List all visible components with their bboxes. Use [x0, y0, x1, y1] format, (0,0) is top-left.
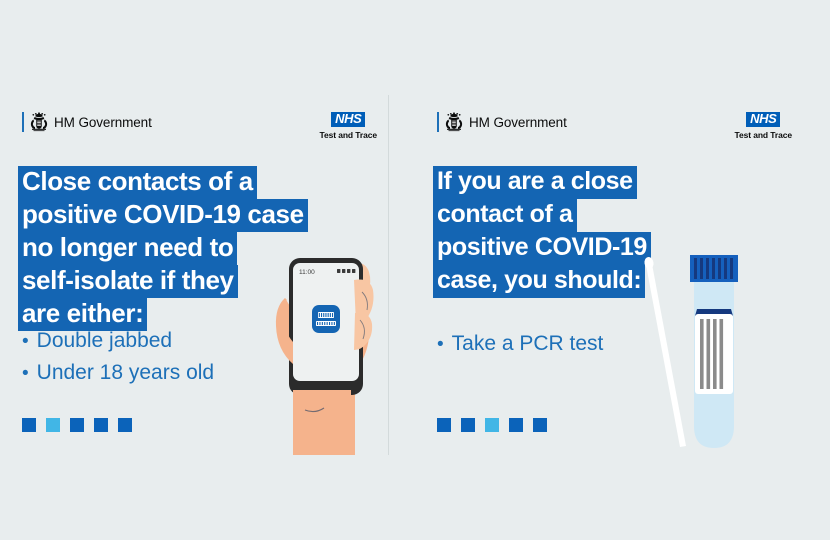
- phone-status-time: 11:00: [299, 269, 315, 276]
- bullet-marker-icon: •: [22, 358, 29, 389]
- list-item-label: Under 18 years old: [37, 357, 214, 388]
- heading-line-text: Close contacts of a: [18, 166, 257, 199]
- heading-line: If you are a close: [433, 166, 651, 199]
- nhs-logo-subtitle: Test and Trace: [320, 130, 378, 140]
- nhs-test-and-trace-logo: NHS Test and Trace: [320, 110, 378, 140]
- decor-square: [94, 418, 108, 432]
- hand-phone-svg: 11:00: [255, 250, 405, 455]
- decor-square: [118, 418, 132, 432]
- heading-line-text: case, you should:: [433, 265, 645, 298]
- hand-holding-phone-illustration: 11:00: [255, 250, 405, 455]
- heading-line-text: self-isolate if they: [18, 265, 238, 298]
- panel-right-header: HM Government NHS Test and Trace: [437, 112, 810, 144]
- nhs-covid19-app-icon: [312, 305, 340, 333]
- royal-crest-icon: [29, 112, 49, 132]
- panel-right-square-decoration: [437, 418, 547, 432]
- nhs-logo-mark: NHS: [331, 112, 365, 127]
- hm-government-accent-bar: [22, 112, 24, 132]
- list-item: • Take a PCR test: [437, 328, 603, 360]
- decor-square-highlight: [485, 418, 499, 432]
- heading-line-text: no longer need to: [18, 232, 237, 265]
- heading-line: case, you should:: [433, 265, 651, 298]
- panel-left-square-decoration: [22, 418, 132, 432]
- heading-line-text: If you are a close: [433, 166, 637, 199]
- panel-left-header: HM Government NHS Test and Trace: [22, 112, 395, 144]
- panel-right: HM Government NHS Test and Trace If you …: [415, 0, 830, 540]
- panel-right-bullet-list: • Take a PCR test: [437, 328, 603, 360]
- poster-canvas: HM Government NHS Test and Trace Close c…: [0, 0, 830, 540]
- hm-government-label: HM Government: [54, 115, 152, 130]
- decor-square: [461, 418, 475, 432]
- list-item-label: Take a PCR test: [452, 328, 604, 359]
- decor-square: [70, 418, 84, 432]
- panel-left-bullet-list: • Double jabbed • Under 18 years old: [22, 325, 214, 389]
- panel-left: HM Government NHS Test and Trace Close c…: [0, 0, 415, 540]
- heading-line: Close contacts of a: [18, 166, 308, 199]
- heading-line: contact of a: [433, 199, 651, 232]
- wrist: [293, 390, 351, 455]
- list-item: • Double jabbed: [22, 325, 214, 357]
- tube-swab-svg: [640, 250, 815, 455]
- heading-line-text: contact of a: [433, 199, 577, 232]
- panel-right-heading: If you are a close contact of a positive…: [433, 166, 651, 298]
- decor-square: [22, 418, 36, 432]
- decor-square: [437, 418, 451, 432]
- decor-square: [509, 418, 523, 432]
- hand-front-fingers: [354, 279, 374, 350]
- heading-line-text: positive COVID-19 case: [18, 199, 308, 232]
- decor-square: [533, 418, 547, 432]
- pcr-test-tube-illustration: [640, 250, 815, 455]
- nhs-test-and-trace-logo: NHS Test and Trace: [735, 110, 793, 140]
- list-item-label: Double jabbed: [37, 325, 172, 356]
- bullet-marker-icon: •: [22, 326, 29, 357]
- heading-line-text: positive COVID-19: [433, 232, 651, 265]
- swab-icon: [644, 256, 686, 447]
- hm-government-accent-bar: [437, 112, 439, 132]
- hm-government-label: HM Government: [469, 115, 567, 130]
- royal-crest-icon: [444, 112, 464, 132]
- bullet-marker-icon: •: [437, 329, 444, 360]
- panel-divider: [388, 95, 389, 455]
- nhs-logo-mark: NHS: [746, 112, 780, 127]
- list-item: • Under 18 years old: [22, 357, 214, 389]
- hm-government-logo: HM Government: [437, 112, 567, 132]
- nhs-logo-subtitle: Test and Trace: [735, 130, 793, 140]
- decor-square-highlight: [46, 418, 60, 432]
- heading-line: positive COVID-19 case: [18, 199, 308, 232]
- hm-government-logo: HM Government: [22, 112, 152, 132]
- heading-line: positive COVID-19: [433, 232, 651, 265]
